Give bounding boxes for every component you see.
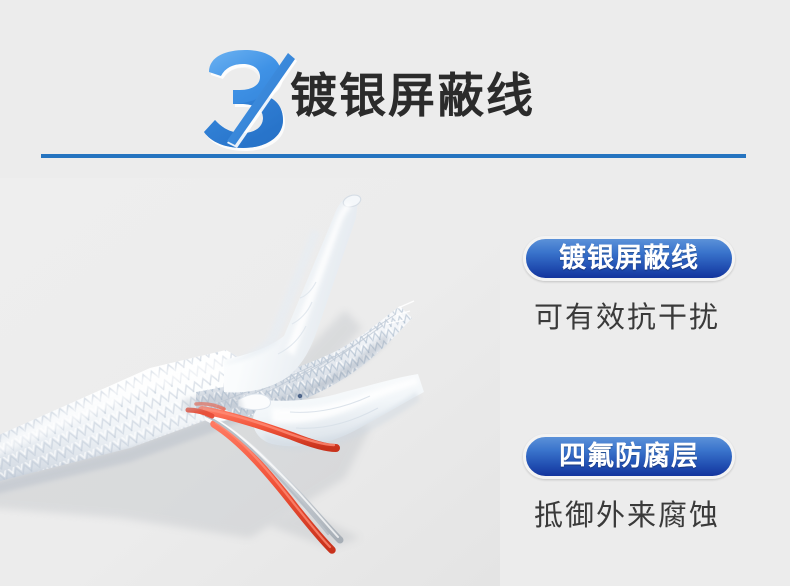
feature-badge-pill: 镀银屏蔽线 xyxy=(523,236,735,281)
feature-description: 可有效抗干扰 xyxy=(534,298,777,336)
feature-badge-label: 镀银屏蔽线 xyxy=(526,245,732,272)
feature-badge-label: 四氟防腐层 xyxy=(526,443,732,470)
banner-header: 镀银屏蔽线 xyxy=(0,0,790,170)
feature-item: 镀银屏蔽线 可有效抗干扰 xyxy=(512,236,777,336)
feature-description: 抵御外来腐蚀 xyxy=(534,496,777,534)
feature-callout-list: 镀银屏蔽线 可有效抗干扰 四氟防腐层 抵御外来腐蚀 xyxy=(512,236,777,534)
product-photo xyxy=(0,178,500,586)
feature-badge-pill: 四氟防腐层 xyxy=(523,434,735,479)
header-divider xyxy=(41,154,746,158)
step-number-3-icon xyxy=(193,48,298,152)
product-feature-banner: 镀银屏蔽线 xyxy=(0,0,790,586)
page-title: 镀银屏蔽线 xyxy=(290,66,535,128)
feature-item: 四氟防腐层 抵御外来腐蚀 xyxy=(512,434,777,534)
